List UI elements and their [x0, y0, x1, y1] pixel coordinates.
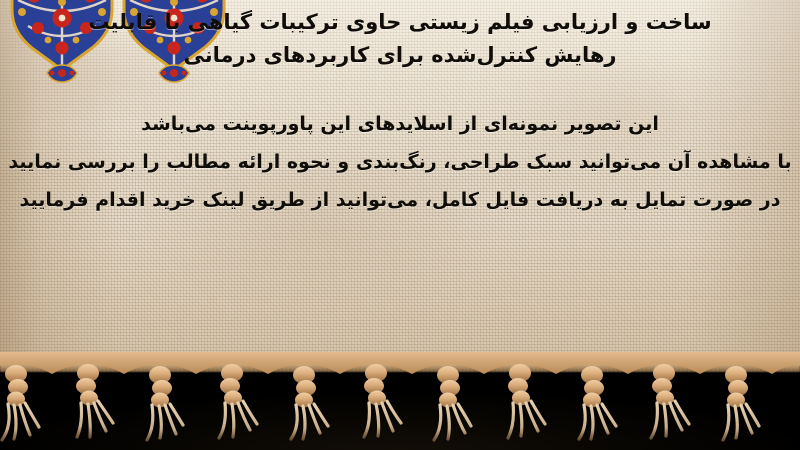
slide-body-line-3: در صورت تمایل به دریافت فایل کامل، می‌تو…	[0, 181, 800, 219]
slide-text-layer: ساخت و ارزیابی فیلم زیستی حاوی ترکیبات گ…	[0, 0, 800, 219]
slide-canvas: ساخت و ارزیابی فیلم زیستی حاوی ترکیبات گ…	[0, 0, 800, 450]
slide-title-line-2: رهایش کنترل‌شده برای کاربردهای درمانی	[0, 39, 800, 72]
carpet-fringe	[0, 352, 800, 450]
slide-body-line-2: با مشاهده آن می‌توانید سبک طراحی، رنگ‌بن…	[0, 143, 800, 181]
slide-body-block: این تصویر نمونه‌ای از اسلایدهای این پاور…	[0, 105, 800, 219]
slide-body-line-1: این تصویر نمونه‌ای از اسلایدهای این پاور…	[0, 105, 800, 143]
slide-title-line-1: ساخت و ارزیابی فیلم زیستی حاوی ترکیبات گ…	[0, 6, 800, 39]
